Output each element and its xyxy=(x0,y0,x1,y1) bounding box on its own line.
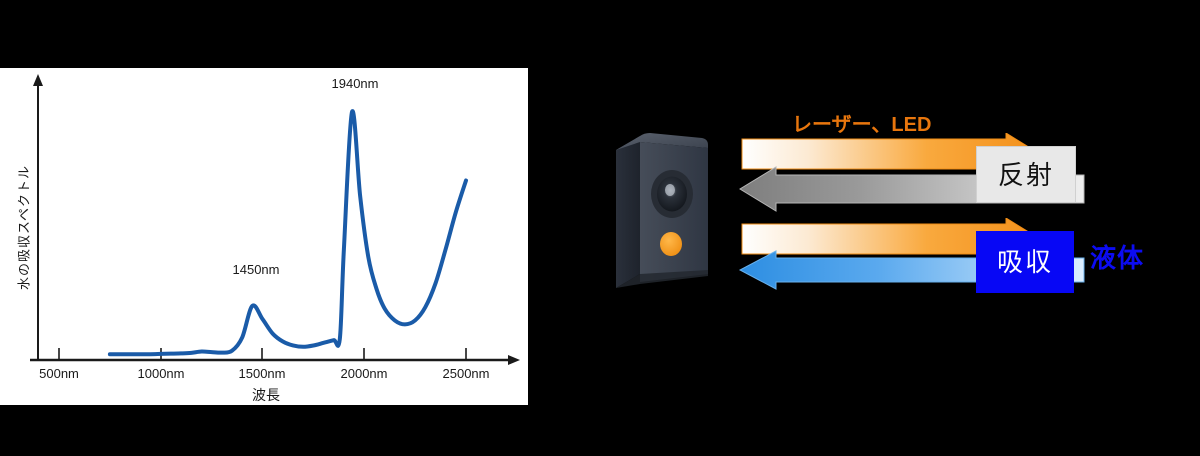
led-indicator-icon xyxy=(660,232,682,256)
x-axis-arrowhead xyxy=(508,355,520,365)
water-absorption-chart-panel: 水の吸収スペクトル 500nm 1000nm 1500nm 2000nm 250… xyxy=(0,68,528,405)
chart-x-axis-title: 波長 xyxy=(252,387,280,403)
peak-label-1940: 1940nm xyxy=(332,76,379,91)
spectrum-curve xyxy=(110,111,466,354)
x-tick-label-500: 500nm xyxy=(39,366,79,381)
chart-plot-area: 500nm 1000nm 1500nm 2000nm 2500nm 波長 145… xyxy=(0,68,528,405)
label-reflection: 反射 xyxy=(976,146,1076,203)
y-axis-arrowhead xyxy=(33,74,43,86)
label-absorption: 吸収 xyxy=(976,231,1074,293)
x-tick-label-2000: 2000nm xyxy=(341,366,388,381)
peak-label-1450: 1450nm xyxy=(233,262,280,277)
lens-highlight-icon xyxy=(665,184,675,196)
device-side-face xyxy=(616,136,640,288)
optical-sensor-device xyxy=(610,122,715,297)
label-liquid: 液体 xyxy=(1090,238,1144,275)
x-tick-label-1500: 1500nm xyxy=(239,366,286,381)
x-tick-label-2500: 2500nm xyxy=(443,366,490,381)
sensor-liquid-diagram: レーザー、LED 反射 吸収 液体 xyxy=(530,60,1200,400)
label-laser-led: レーザー、LED xyxy=(792,108,931,137)
x-tick-label-1000: 1000nm xyxy=(138,366,185,381)
